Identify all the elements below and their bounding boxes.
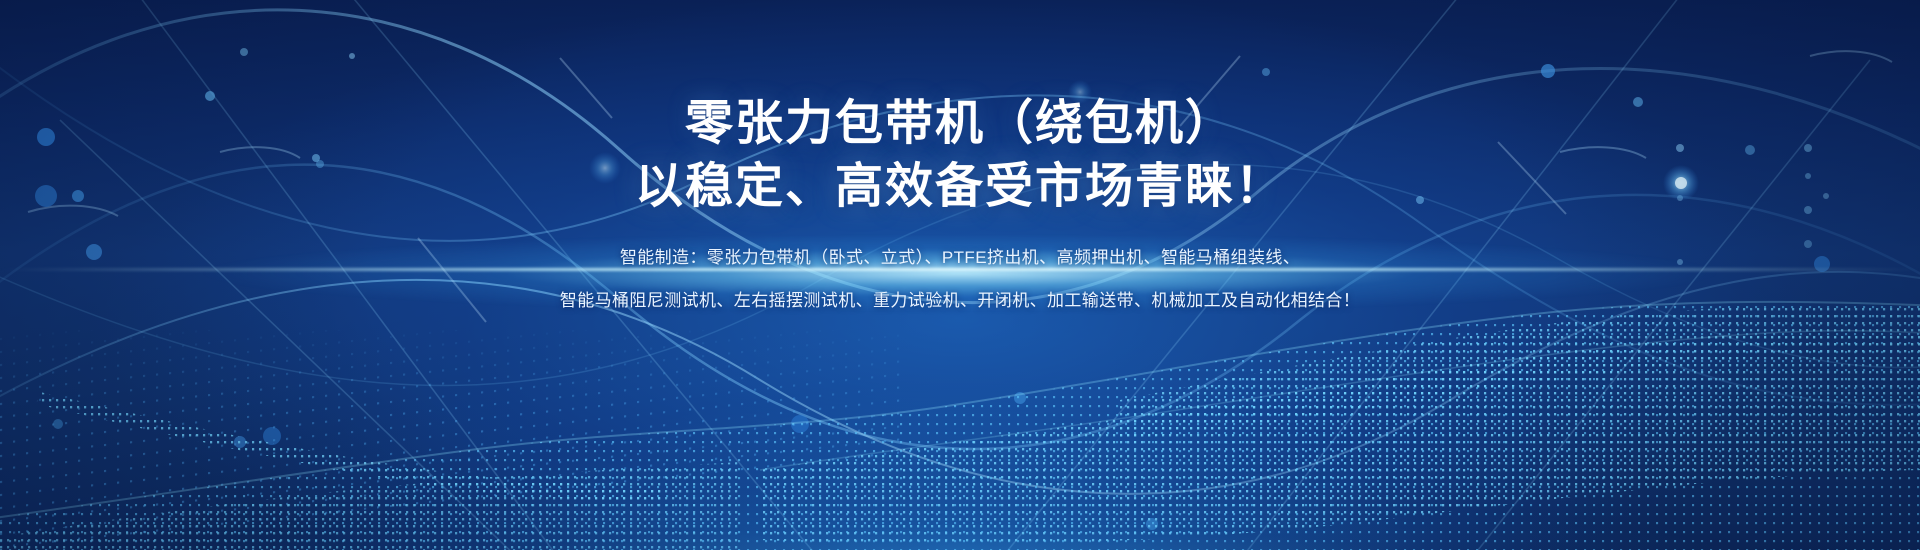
subtitle-line-1: 智能制造：零张力包带机（卧式、立式）、PTFE挤出机、高频押出机、智能马桶组装线… bbox=[620, 249, 1300, 268]
headline-line-2: 以稳定、高效备受市场青睐！ bbox=[635, 159, 1285, 216]
promo-banner: 零张力包带机（绕包机） 以稳定、高效备受市场青睐！ 智能制造：零张力包带机（卧式… bbox=[0, 0, 1920, 550]
headline-line-1: 零张力包带机（绕包机） bbox=[685, 96, 1235, 153]
banner-content: 零张力包带机（绕包机） 以稳定、高效备受市场青睐！ 智能制造：零张力包带机（卧式… bbox=[0, 0, 1920, 550]
subtitle-line-2: 智能马桶阻尼测试机、左右摇摆测试机、重力试验机、开闭机、加工输送带、机械加工及自… bbox=[560, 292, 1360, 311]
